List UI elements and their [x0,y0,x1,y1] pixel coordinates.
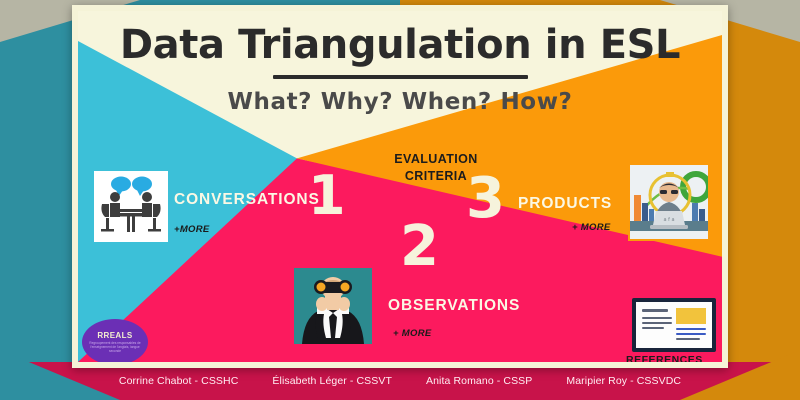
reference-page [636,302,712,348]
ref-heading-line [642,309,668,312]
more-link-observations[interactable]: + MORE [393,328,432,339]
more-link-conversations[interactable]: +MORE [174,224,210,235]
section-label-conversations[interactable]: CONVERSATIONS [174,191,320,209]
slide-canvas: Data Triangulation in ESL What? Why? Whe… [78,11,722,362]
ref-link-line-2 [676,333,706,335]
credit-item-3: Anita Romano - CSSP [426,375,532,387]
title-underline-rule [273,75,528,79]
section-number-2: 2 [400,223,439,271]
slide-card: Data Triangulation in ESL What? Why? Whe… [72,5,728,368]
person-at-laptop-icon[interactable]: a f a [628,163,710,241]
ref-image-block [676,308,706,324]
section-label-observations[interactable]: OBSERVATIONS [388,297,520,315]
ref-text-line-2 [642,322,672,324]
credit-item-4: Maripier Roy - CSSVDC [566,375,681,387]
title-block: Data Triangulation in ESL What? Why? Whe… [78,25,722,115]
conversation-illustration [94,171,168,242]
references-label[interactable]: REFERENCES [626,354,703,362]
person-with-binoculars-icon[interactable] [292,266,374,346]
binoculars-illustration [294,268,372,344]
svg-text:a f a: a f a [663,217,674,223]
credit-item-2: Élisabeth Léger - CSSVT [272,375,392,387]
more-link-products[interactable]: + MORE [572,222,611,233]
section-number-3: 3 [466,175,505,223]
page-subtitle: What? Why? When? How? [78,89,722,115]
document-slide-icon[interactable] [632,298,716,352]
products-illustration: a f a [630,165,708,239]
ref-link-line-1 [676,328,706,330]
rreals-logo-tagline: Regroupement des responsables de l'ensei… [83,340,147,353]
rreals-logo-name: RREALS [97,331,132,340]
ref-text-line-3 [642,327,664,329]
section-label-products[interactable]: PRODUCTS [518,195,612,213]
credits-bar: Corrine Chabot - CSSHC Élisabeth Léger -… [0,362,800,400]
two-people-talking-icon[interactable] [92,169,170,244]
credit-item-1: Corrine Chabot - CSSHC [119,375,239,387]
ref-link-line-3 [676,338,700,340]
page-title: Data Triangulation in ESL [78,25,722,65]
rreals-logo[interactable]: RREALS Regroupement des responsables de … [82,319,148,362]
ref-text-line-1 [642,317,672,319]
